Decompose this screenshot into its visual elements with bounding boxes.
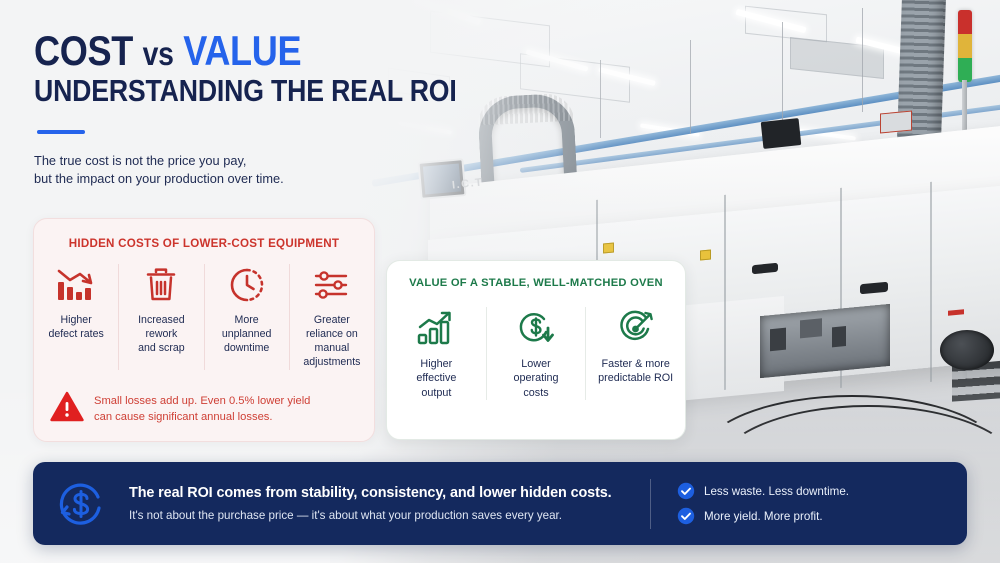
- warning-line-1: Small losses add up. Even 0.5% lower yie…: [94, 393, 310, 409]
- warning-text: Small losses add up. Even 0.5% lower yie…: [94, 393, 310, 425]
- hidden-costs-warning: Small losses add up. Even 0.5% lower yie…: [50, 391, 360, 427]
- trash-bin-icon: [124, 264, 198, 306]
- value-card-title: VALUE OF A STABLE, WELL-MATCHED OVEN: [387, 277, 685, 289]
- intro-line-1: The true cost is not the price you pay,: [34, 152, 525, 170]
- target-dart-icon: [591, 307, 680, 349]
- page-subtitle: UNDERSTANDING THE REAL ROI: [34, 75, 457, 108]
- clock-icon: [210, 264, 284, 306]
- value-item-higher-output: Highereffectiveoutput: [387, 307, 486, 400]
- warning-line-2: can cause significant annual losses.: [94, 409, 310, 425]
- value-label: Highereffectiveoutput: [392, 357, 481, 400]
- value-label: Faster & morepredictable ROI: [591, 357, 680, 386]
- check-circle-icon: [677, 507, 695, 525]
- value-label: Loweroperatingcosts: [492, 357, 581, 400]
- infographic-slide: I.C.T COST vs VALUE UNDERSTANDING THE RE…: [0, 0, 1000, 563]
- hidden-cost-item-rework-scrap: Increasedreworkand scrap: [118, 264, 203, 370]
- hidden-cost-item-downtime: Moreunplanneddowntime: [204, 264, 289, 370]
- hidden-cost-label: Moreunplanneddowntime: [210, 314, 284, 356]
- intro-line-2: but the impact on your production over t…: [34, 170, 525, 188]
- checklist-item-waste-downtime: Less waste. Less downtime.: [677, 482, 967, 500]
- dollar-refresh-circle-icon: [33, 477, 129, 531]
- hidden-costs-card: HIDDEN COSTS OF LOWER-COST EQUIPMENT: [33, 218, 375, 442]
- banner-heading: The real ROI comes from stability, consi…: [129, 485, 632, 501]
- check-circle-icon: [677, 482, 695, 500]
- banner-checklist: Less waste. Less downtime. More yield. M…: [651, 475, 967, 532]
- checklist-label: More yield. More profit.: [704, 510, 823, 523]
- title-word-value: VALUE: [183, 27, 301, 74]
- warning-triangle-icon: [50, 391, 84, 427]
- rising-bar-chart-icon: [392, 307, 481, 349]
- hidden-cost-label: Increasedreworkand scrap: [124, 314, 198, 356]
- banner-paragraph: It's not about the purchase price — it's…: [129, 509, 632, 522]
- hidden-costs-card-title: HIDDEN COSTS OF LOWER-COST EQUIPMENT: [34, 237, 374, 250]
- value-items: Highereffectiveoutput Loweroperatingcost…: [387, 307, 685, 400]
- hidden-cost-label: Higherdefect rates: [39, 314, 113, 342]
- page-title: COST vs VALUE: [34, 30, 457, 71]
- banner-text-block: The real ROI comes from stability, consi…: [129, 485, 650, 522]
- roi-summary-banner: The real ROI comes from stability, consi…: [33, 462, 967, 545]
- checklist-item-yield-profit: More yield. More profit.: [677, 507, 967, 525]
- value-card: VALUE OF A STABLE, WELL-MATCHED OVEN H: [386, 260, 686, 440]
- accent-rule: [37, 130, 85, 134]
- hidden-costs-items: Higherdefect rates Increasedreworkand sc…: [34, 264, 374, 370]
- sliders-icon: [295, 264, 369, 306]
- hidden-cost-label: Greaterreliance onmanualadjustments: [295, 314, 369, 370]
- declining-bar-chart-icon: [39, 264, 113, 306]
- hidden-cost-item-defect-rates: Higherdefect rates: [34, 264, 118, 370]
- title-word-cost: COST: [34, 27, 133, 74]
- hidden-cost-item-manual-adjustments: Greaterreliance onmanualadjustments: [289, 264, 374, 370]
- dollar-circle-down-arrow-icon: [492, 307, 581, 349]
- title-word-vs: vs: [143, 35, 174, 72]
- checklist-label: Less waste. Less downtime.: [704, 485, 849, 498]
- intro-text: The true cost is not the price you pay, …: [34, 152, 525, 188]
- value-item-lower-costs: Loweroperatingcosts: [486, 307, 586, 400]
- value-item-faster-roi: Faster & morepredictable ROI: [585, 307, 685, 400]
- headline-block: COST vs VALUE UNDERSTANDING THE REAL ROI…: [34, 30, 525, 188]
